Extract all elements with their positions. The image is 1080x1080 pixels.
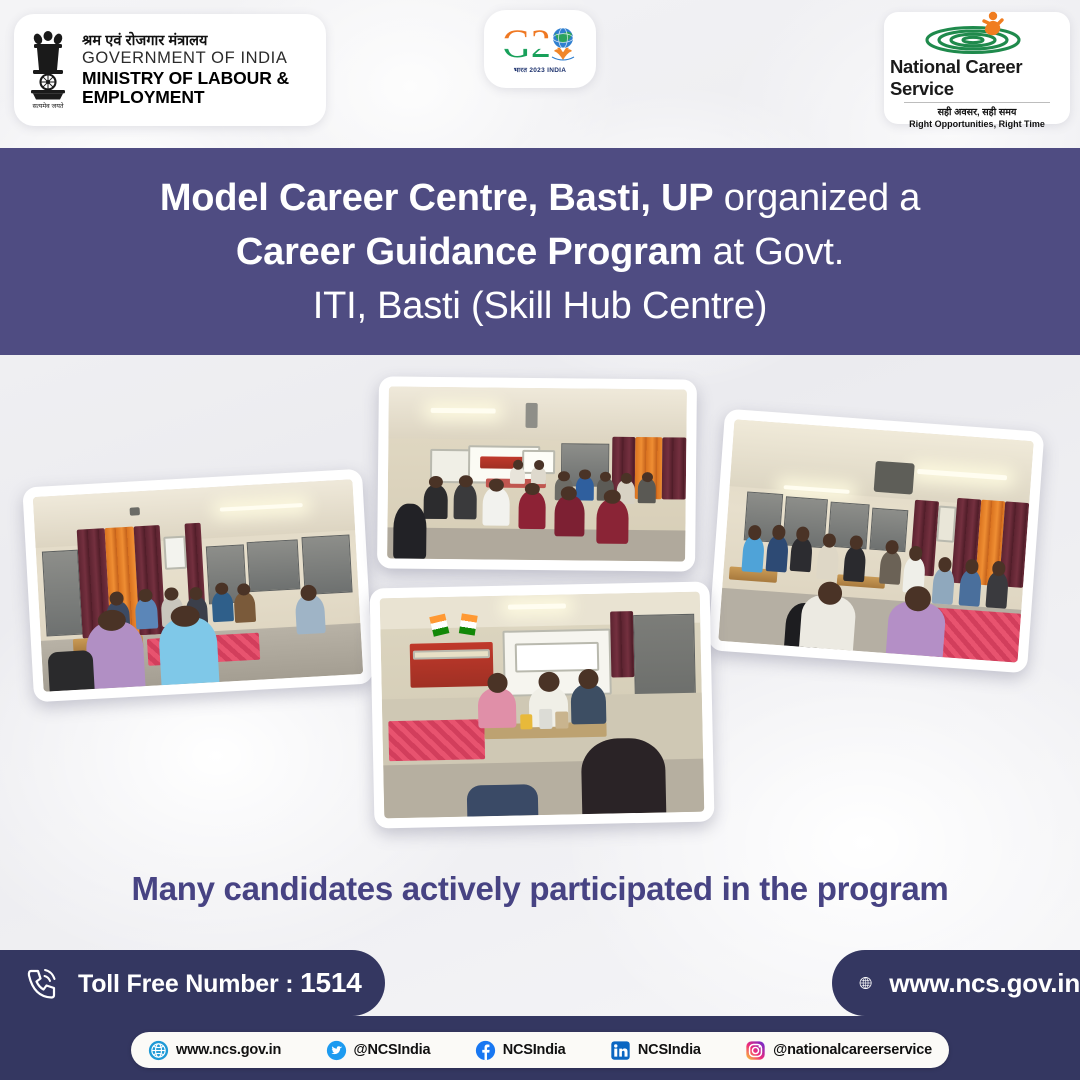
website-text: www.ncs.gov.in [889, 968, 1080, 999]
ministry-hindi-label: श्रम एवं रोजगार मंत्रालय [82, 34, 316, 49]
toll-free-number: 1514 [300, 967, 362, 998]
instagram-icon [745, 1040, 766, 1061]
headline-line-2-bold: Career Guidance Program [236, 231, 702, 273]
headline-line-3: ITI, Basti (Skill Hub Centre) [313, 279, 768, 333]
social-label-website: www.ncs.gov.in [176, 1042, 281, 1058]
g20-wordmark: G2 [502, 25, 551, 63]
government-label: GOVERNMENT OF INDIA [82, 50, 316, 67]
ncs-tagline-hindi: सही अवसर, सही समय [938, 105, 1017, 118]
ncs-ripple-figure-icon [917, 9, 1037, 55]
headline-line-1-bold: Model Career Centre, Basti, UP [160, 177, 714, 219]
social-label-facebook: NCSIndia [503, 1042, 566, 1058]
g20-logo-card: G2 भारत 2023 INDIA [484, 10, 596, 88]
phone-ring-icon [22, 963, 62, 1003]
linkedin-icon [610, 1040, 631, 1061]
website-pill[interactable]: www.ncs.gov.in [832, 950, 1080, 1016]
facebook-icon [475, 1040, 496, 1061]
toll-free-pill[interactable]: Toll Free Number : 1514 [0, 950, 385, 1016]
photo-left [22, 469, 373, 703]
tagline-text: Many candidates actively participated in… [0, 858, 1080, 920]
social-label-twitter: @NCSIndia [354, 1042, 431, 1058]
twitter-icon [326, 1040, 347, 1061]
social-item-twitter[interactable]: @NCSIndia [326, 1040, 431, 1061]
headline-line-1-rest: organized a [713, 177, 920, 219]
ashoka-emblem-icon: सत्यमेव जयते [24, 28, 72, 112]
social-item-instagram[interactable]: @nationalcareerservice [745, 1040, 932, 1061]
headline-banner: Model Career Centre, Basti, UP organized… [0, 148, 1080, 355]
headline-line-2: Career Guidance Program at Govt. [236, 225, 844, 279]
ncs-name-label: National Career Service [890, 56, 1064, 100]
g20-subtitle: भारत 2023 INDIA [514, 65, 567, 74]
social-item-website[interactable]: www.ncs.gov.in [148, 1040, 281, 1061]
ncs-logo-card: National Career Service सही अवसर, सही सम… [884, 12, 1070, 124]
svg-text:सत्यमेव जयते: सत्यमेव जयते [32, 102, 63, 110]
social-label-instagram: @nationalcareerservice [773, 1042, 932, 1058]
toll-free-label: Toll Free Number : [78, 970, 300, 998]
social-label-linkedin: NCSIndia [638, 1042, 701, 1058]
poster-root: सत्यमेव जयते श्रम एवं रोजगार मंत्रालय GO… [0, 0, 1080, 1080]
ncs-divider [904, 102, 1050, 103]
ncs-tagline-english: Right Opportunities, Right Time [909, 119, 1045, 129]
social-links-strip: www.ncs.gov.in @NCSIndia NCSIndia N [131, 1032, 949, 1068]
social-item-facebook[interactable]: NCSIndia [475, 1040, 566, 1061]
photo-bottom-center [370, 581, 715, 828]
headline-line-1: Model Career Centre, Basti, UP organized… [160, 171, 920, 225]
photo-right [708, 409, 1045, 674]
globe-icon [148, 1040, 169, 1061]
g20-globe-lotus-icon [548, 24, 578, 64]
ministry-logo-card: सत्यमेव जयते श्रम एवं रोजगार मंत्रालय GO… [14, 14, 326, 126]
ministry-name-label: MINISTRY OF LABOUR & EMPLOYMENT [82, 69, 316, 106]
globe-icon [858, 964, 873, 1002]
photo-collage [0, 355, 1080, 855]
headline-line-2-rest: at Govt. [702, 231, 844, 273]
social-item-linkedin[interactable]: NCSIndia [610, 1040, 701, 1061]
photo-top-center [377, 376, 697, 571]
toll-free-text: Toll Free Number : 1514 [78, 967, 362, 999]
header-bar: सत्यमेव जयते श्रम एवं रोजगार मंत्रालय GO… [0, 0, 1080, 148]
